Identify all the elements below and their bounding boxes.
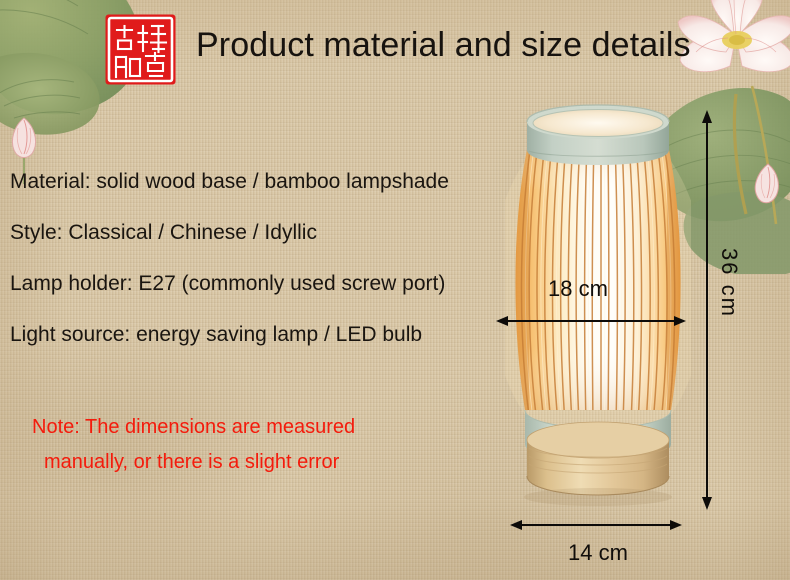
- note-line-2: manually, or there is a slight error: [10, 445, 480, 480]
- auspicious-seal-icon: [104, 13, 177, 86]
- dimension-arrow-height: [698, 110, 716, 510]
- dimension-label-height: 36 cm: [716, 248, 742, 318]
- spec-lamp-holder: Lamp holder: E27 (commonly used screw po…: [10, 270, 500, 297]
- dimension-label-base-width: 14 cm: [568, 540, 628, 566]
- spec-style: Style: Classical / Chinese / Idyllic: [10, 219, 500, 246]
- product-detail-image: Product material and size details Materi…: [0, 0, 790, 580]
- dimension-label-width: 18 cm: [548, 276, 608, 302]
- spec-light-source: Light source: energy saving lamp / LED b…: [10, 321, 500, 348]
- dimension-arrow-width: [496, 312, 686, 330]
- specification-list: Material: solid wood base / bamboo lamps…: [10, 168, 500, 372]
- note-line-1: Note: The dimensions are measured: [10, 410, 480, 445]
- spec-material: Material: solid wood base / bamboo lamps…: [10, 168, 500, 195]
- dimension-arrow-base-width: [510, 516, 682, 534]
- measurement-note: Note: The dimensions are measured manual…: [10, 410, 480, 480]
- page-title: Product material and size details: [196, 22, 691, 68]
